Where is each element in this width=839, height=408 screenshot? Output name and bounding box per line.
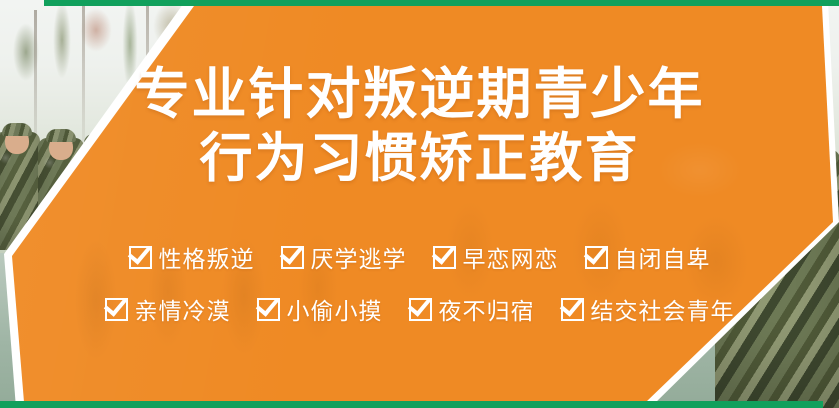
checklist-item: 早恋网恋	[433, 240, 559, 274]
checklist-item-label: 性格叛逆	[159, 240, 255, 274]
headline-line-2: 行为习惯矫正教育	[0, 132, 839, 186]
checklist-item-label: 早恋网恋	[463, 240, 559, 274]
checklist-row: 性格叛逆 厌学逃学 早恋网恋 自闭自卑	[0, 240, 839, 274]
checkmark-icon	[585, 246, 608, 269]
checkmark-icon	[281, 246, 304, 269]
checklist-item-label: 小偷小摸	[287, 292, 383, 326]
checklist-item-label: 自闭自卑	[615, 240, 711, 274]
checklist: 性格叛逆 厌学逃学 早恋网恋 自闭自卑 亲情冷漠	[0, 240, 839, 344]
checklist-item: 性格叛逆	[129, 240, 255, 274]
checklist-item: 厌学逃学	[281, 240, 407, 274]
promo-banner: 专业针对叛逆期青少年 行为习惯矫正教育 性格叛逆 厌学逃学 早恋网恋	[0, 0, 839, 408]
checklist-item-label: 结交社会青年	[591, 292, 735, 326]
banner-content: 专业针对叛逆期青少年 行为习惯矫正教育 性格叛逆 厌学逃学 早恋网恋	[0, 0, 839, 408]
checklist-item-label: 亲情冷漠	[135, 292, 231, 326]
headline: 专业针对叛逆期青少年 行为习惯矫正教育	[0, 66, 839, 186]
checklist-item: 自闭自卑	[585, 240, 711, 274]
checklist-item-label: 厌学逃学	[311, 240, 407, 274]
checkmark-icon	[129, 246, 152, 269]
checkmark-icon	[105, 298, 128, 321]
checklist-item-label: 夜不归宿	[439, 292, 535, 326]
checkmark-icon	[257, 298, 280, 321]
checkmark-icon	[409, 298, 432, 321]
checklist-row: 亲情冷漠 小偷小摸 夜不归宿 结交社会青年	[0, 292, 839, 326]
checklist-item: 亲情冷漠	[105, 292, 231, 326]
checkmark-icon	[433, 246, 456, 269]
checklist-item: 小偷小摸	[257, 292, 383, 326]
checklist-item: 夜不归宿	[409, 292, 535, 326]
checklist-item: 结交社会青年	[561, 292, 735, 326]
checkmark-icon	[561, 298, 584, 321]
headline-line-1: 专业针对叛逆期青少年	[0, 66, 839, 122]
